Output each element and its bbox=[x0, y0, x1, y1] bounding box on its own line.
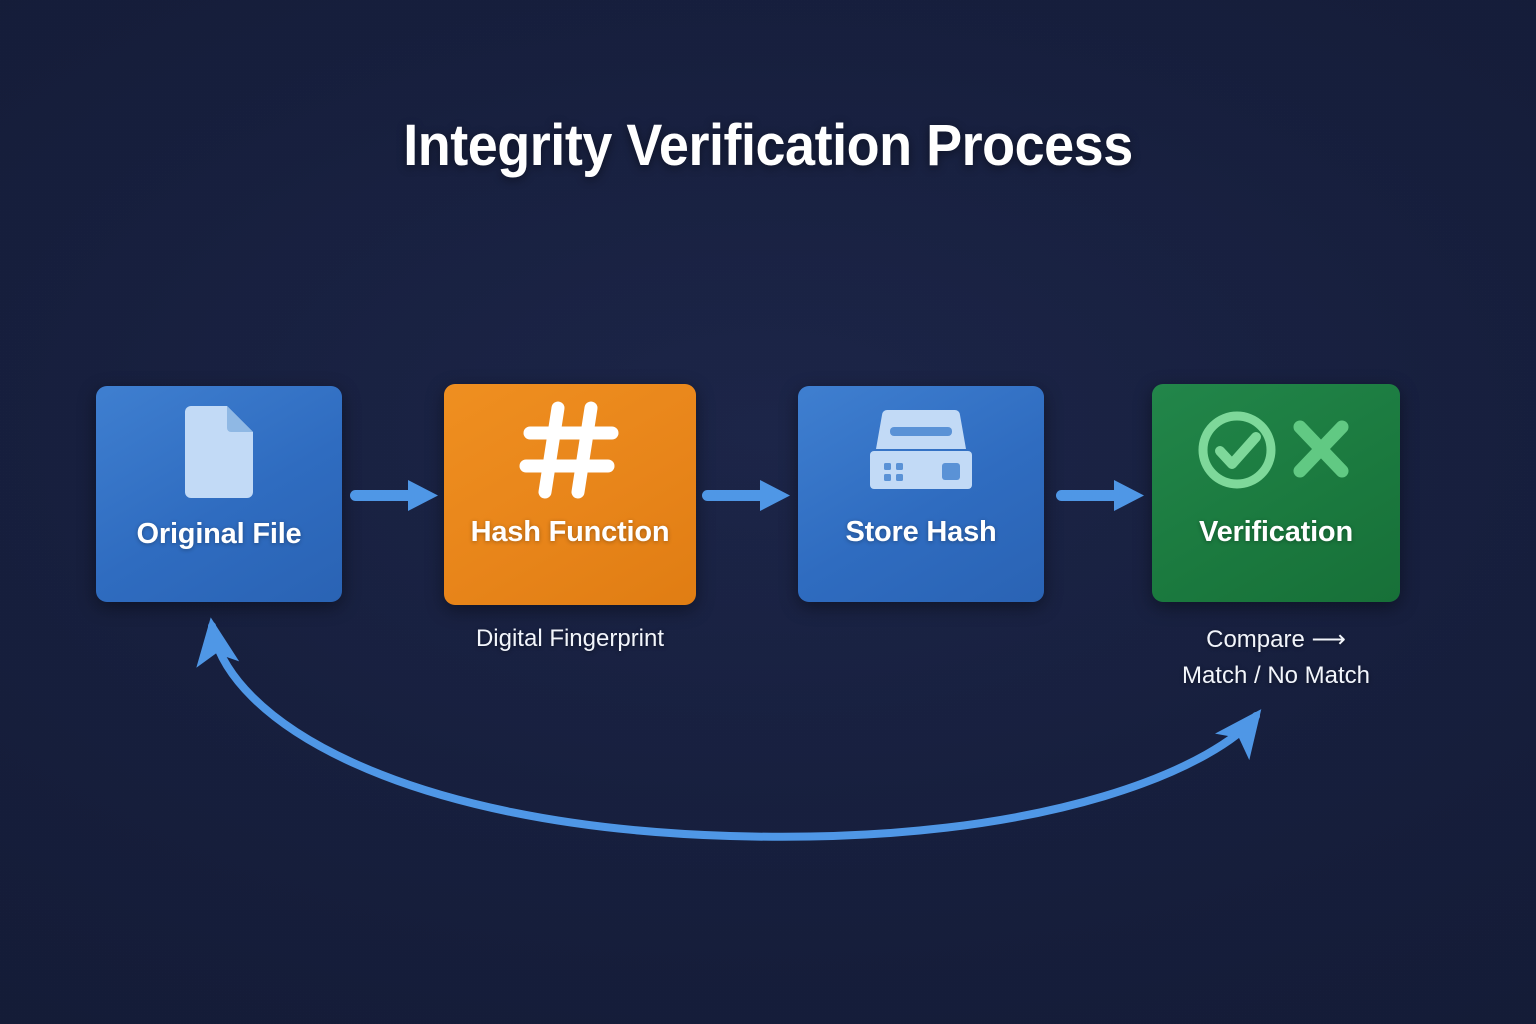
check-cross-icon bbox=[1152, 384, 1400, 516]
step-card-original-file[interactable]: Original File bbox=[96, 386, 342, 602]
step-label: Hash Function bbox=[471, 516, 670, 549]
diagram-canvas: Integrity Verification Process Original … bbox=[0, 0, 1536, 1024]
page-title: Integrity Verification Process bbox=[54, 112, 1482, 179]
hash-icon bbox=[444, 384, 696, 516]
document-icon bbox=[96, 386, 342, 518]
step-card-verification[interactable]: Verification bbox=[1152, 384, 1400, 602]
arrow-right-icon-hash-to-store bbox=[700, 474, 796, 518]
arrow-right-icon-file-to-hash bbox=[348, 474, 444, 518]
server-store-icon bbox=[798, 386, 1044, 518]
step-card-hash-function[interactable]: Hash Function bbox=[444, 384, 696, 605]
curved-double-arrow-icon-feedback-loop bbox=[160, 600, 1300, 870]
arrow-right-icon-store-to-verify bbox=[1054, 474, 1150, 518]
step-label: Verification bbox=[1199, 516, 1353, 549]
step-label: Store Hash bbox=[845, 516, 996, 549]
step-label: Original File bbox=[137, 518, 302, 551]
step-card-store-hash[interactable]: Store Hash bbox=[798, 386, 1044, 602]
